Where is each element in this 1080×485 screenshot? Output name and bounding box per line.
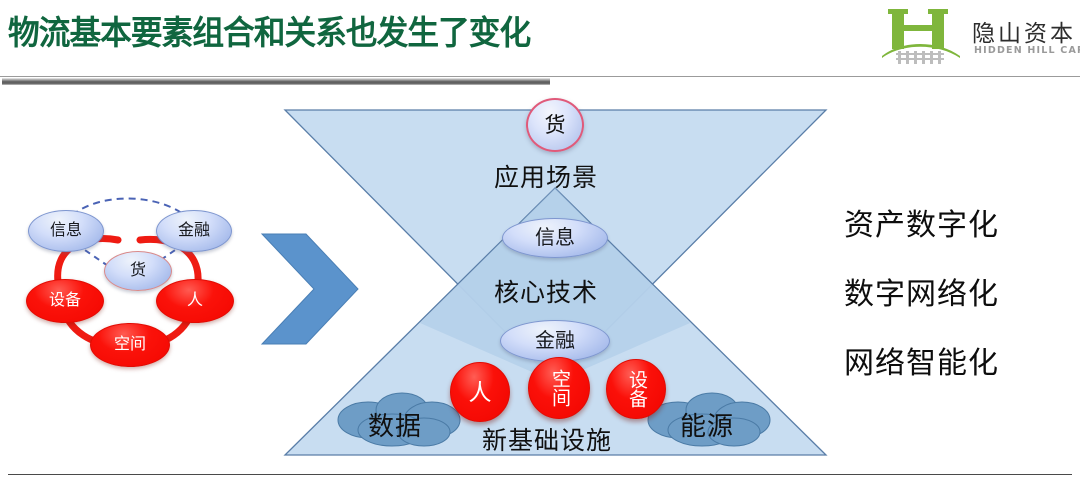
left-node-kongjian[interactable]: 空间	[90, 323, 170, 367]
center-node-xinxi[interactable]: 信息	[502, 218, 608, 258]
left-node-ren[interactable]: 人	[156, 279, 234, 323]
center-node-huo-label: 货	[545, 115, 566, 136]
left-node-huo-label: 货	[130, 263, 146, 279]
brand-logo: 隐山资本 HIDDEN HILL CAPITAL	[880, 4, 1080, 66]
cloud-label-data: 数据	[368, 406, 422, 443]
right-key-points-list: 资产数字化 数字网络化 网络智能化	[844, 200, 1074, 407]
page-title: 物流基本要素组合和关系也发生了变化	[8, 6, 530, 54]
left-node-xinxi-label: 信息	[50, 223, 82, 239]
left-node-jinrong-label: 金融	[178, 223, 210, 239]
header-thick-divider	[2, 78, 550, 85]
left-node-shebei[interactable]: 设备	[26, 279, 104, 323]
left-node-xinxi[interactable]: 信息	[28, 210, 104, 252]
center-node-kongjian[interactable]: 空间	[528, 357, 590, 419]
layer-label-core-tech: 核心技术	[494, 273, 598, 309]
center-node-ren[interactable]: 人	[450, 362, 510, 422]
center-node-jinrong[interactable]: 金融	[500, 320, 610, 362]
center-node-xinxi-label: 信息	[535, 228, 575, 248]
left-node-huo[interactable]: 货	[104, 251, 172, 291]
layer-label-new-infra: 新基础设施	[482, 421, 612, 457]
layer-label-application: 应用场景	[494, 158, 598, 194]
cloud-label-energy: 能源	[680, 406, 734, 443]
slide-header: 物流基本要素组合和关系也发生了变化 隐山资本 HIDDEN	[0, 0, 1080, 92]
left-node-jinrong[interactable]: 金融	[156, 210, 232, 252]
center-node-ren-label: 人	[469, 381, 492, 404]
brand-name-en: HIDDEN HILL CAPITAL	[974, 45, 1080, 56]
hidden-hill-bridge-logo-icon	[880, 6, 962, 64]
right-point-1: 资产数字化	[844, 200, 1074, 244]
left-node-kongjian-label: 空间	[114, 337, 146, 353]
header-hairline-divider	[0, 76, 1080, 77]
right-point-3: 网络智能化	[844, 338, 1074, 382]
center-node-kongjian-label: 空间	[550, 369, 568, 407]
left-node-ren-label: 人	[187, 293, 203, 309]
right-point-2: 数字网络化	[844, 269, 1074, 313]
footer-divider	[8, 474, 1072, 475]
brand-name-cn: 隐山资本	[972, 14, 1076, 48]
left-node-shebei-label: 设备	[49, 293, 81, 309]
center-node-huo[interactable]: 货	[526, 98, 584, 152]
center-node-shebei-label: 设备	[627, 370, 645, 408]
hourglass-diagram: 货 应用场景 核心技术 新基础设施 信息 金融 人 空间 设备 数据 能源	[272, 100, 838, 462]
center-node-shebei[interactable]: 设备	[606, 359, 666, 419]
center-node-jinrong-label: 金融	[535, 331, 575, 351]
left-element-cluster: 信息 金融 货 设备 人 空间	[14, 196, 246, 386]
